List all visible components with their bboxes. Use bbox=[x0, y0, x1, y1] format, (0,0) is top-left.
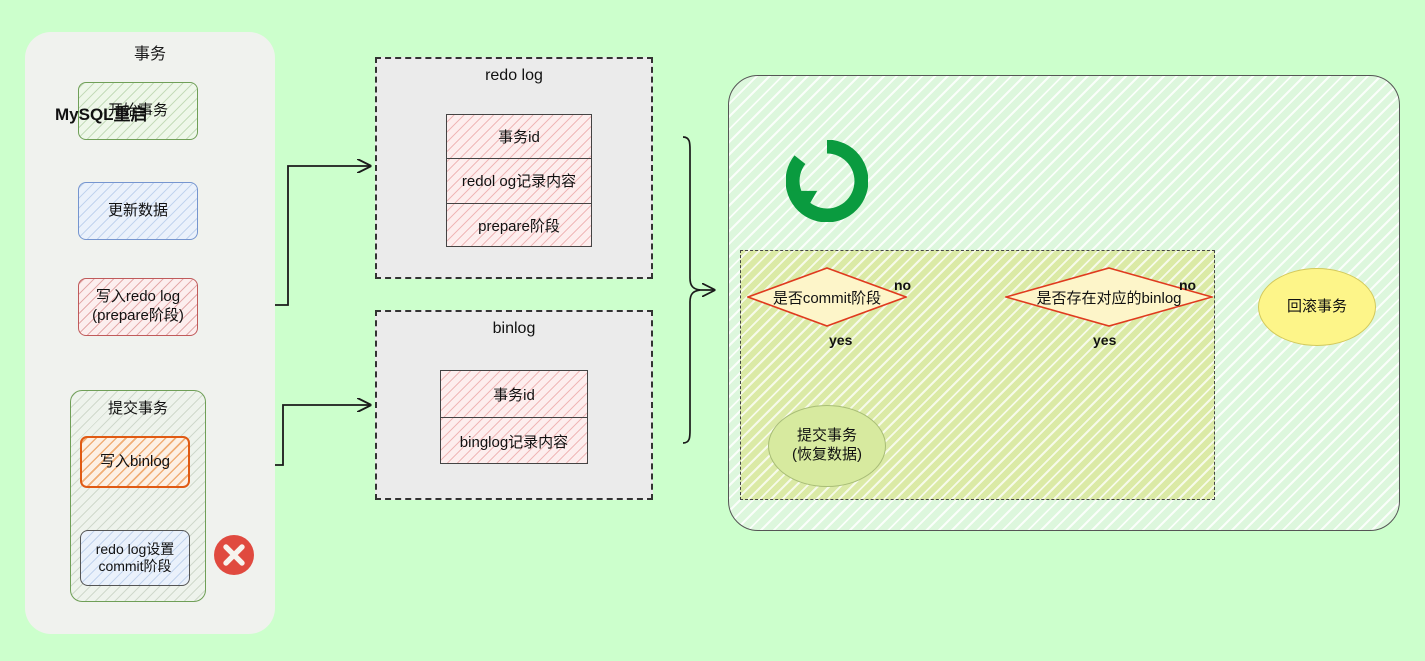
node-update-data[interactable]: 更新数据 bbox=[78, 182, 198, 240]
brace-logs-to-restart bbox=[683, 137, 700, 443]
redo-log-row-prepare-stage: prepare阶段 bbox=[447, 204, 591, 248]
transaction-panel-title: 事务 bbox=[25, 40, 275, 64]
decision-has-matching-binlog-label: 是否存在对应的binlog bbox=[1005, 267, 1213, 327]
edge-label-no-2: no bbox=[1179, 277, 1196, 293]
node-write-redo-log-line1: 写入redo log bbox=[96, 288, 180, 305]
group-commit-transaction-title: 提交事务 bbox=[71, 397, 205, 418]
edge-label-no-1: no bbox=[894, 277, 911, 293]
edge-label-yes-2: yes bbox=[1093, 332, 1116, 348]
terminal-commit-recover-label: 提交事务 (恢复数据) bbox=[792, 427, 862, 465]
terminal-rollback[interactable]: 回滚事务 bbox=[1258, 268, 1376, 346]
node-redo-log-set-commit[interactable]: redo log设置 commit阶段 bbox=[80, 530, 190, 586]
decision-is-commit-stage-label: 是否commit阶段 bbox=[747, 267, 907, 327]
binlog-table: 事务id binglog记录内容 bbox=[440, 370, 588, 464]
binlog-title: binlog bbox=[377, 320, 651, 338]
terminal-commit-recover-line1: 提交事务 bbox=[797, 427, 857, 444]
redo-log-table: 事务id redol og记录内容 prepare阶段 bbox=[446, 114, 592, 247]
terminal-commit-recover[interactable]: 提交事务 (恢复数据) bbox=[768, 405, 886, 487]
node-write-binlog-label: 写入binlog bbox=[100, 453, 170, 472]
node-redo-log-set-commit-line2: commit阶段 bbox=[98, 558, 171, 574]
node-redo-log-set-commit-label: redo log设置 commit阶段 bbox=[96, 541, 175, 576]
terminal-rollback-label: 回滚事务 bbox=[1287, 298, 1347, 317]
refresh-circular-arrow-icon bbox=[786, 140, 868, 222]
node-redo-log-set-commit-line1: redo log设置 bbox=[96, 541, 175, 557]
error-cross-icon bbox=[213, 534, 255, 576]
diagram-canvas: diamond2 --> commit ellipse --> rollback… bbox=[0, 0, 1425, 661]
node-write-binlog[interactable]: 写入binlog bbox=[80, 436, 190, 488]
redo-log-row-content: redol og记录内容 bbox=[447, 159, 591, 203]
edge-label-yes-1: yes bbox=[829, 332, 852, 348]
binlog-row-transaction-id: 事务id bbox=[441, 371, 587, 418]
redo-log-row-transaction-id: 事务id bbox=[447, 115, 591, 159]
node-write-redo-log[interactable]: 写入redo log (prepare阶段) bbox=[78, 278, 198, 336]
node-write-redo-log-label: 写入redo log (prepare阶段) bbox=[92, 288, 184, 326]
node-write-redo-log-line2: (prepare阶段) bbox=[92, 307, 184, 324]
redo-log-title: redo log bbox=[377, 67, 651, 85]
mysql-restart-title: MySQL重启 bbox=[55, 100, 148, 125]
decision-is-commit-stage[interactable]: 是否commit阶段 bbox=[747, 267, 907, 327]
terminal-commit-recover-line2: (恢复数据) bbox=[792, 446, 862, 463]
binlog-row-content: binglog记录内容 bbox=[441, 418, 587, 465]
decision-has-matching-binlog[interactable]: 是否存在对应的binlog bbox=[1005, 267, 1213, 327]
node-update-data-label: 更新数据 bbox=[108, 202, 168, 221]
